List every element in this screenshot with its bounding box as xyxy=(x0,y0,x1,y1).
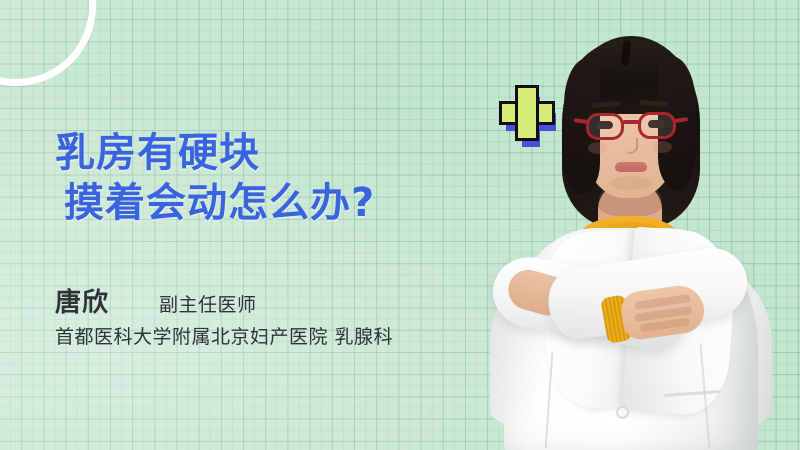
mouth xyxy=(615,162,647,172)
glasses-lens-left xyxy=(586,113,624,140)
doctor-credit: 唐欣 副主任医师 首都医科大学附属北京妇产医院 乳腺科 xyxy=(55,282,485,349)
lab-coat-button xyxy=(616,406,629,419)
chin-shadow xyxy=(610,176,652,190)
doctor-title: 副主任医师 xyxy=(159,290,257,317)
glasses-bridge xyxy=(623,120,639,124)
cheek-right xyxy=(652,141,672,153)
headline-line-1: 乳房有硬块 xyxy=(55,128,485,178)
cross-center-patch xyxy=(519,105,535,121)
doctor-affiliation: 首都医科大学附属北京妇产医院 乳腺科 xyxy=(55,322,485,349)
doctor-name: 唐欣 xyxy=(55,282,109,319)
headline: 乳房有硬块 摸着会动怎么办? xyxy=(55,128,485,228)
cheek-left xyxy=(588,142,608,154)
thumbnail-canvas: 乳房有硬块 摸着会动怎么办? 唐欣 副主任医师 首都医科大学附属北京妇产医院 乳… xyxy=(0,0,800,450)
headline-line-2: 摸着会动怎么办? xyxy=(55,178,485,228)
glasses-lens-right xyxy=(638,112,676,139)
doctor-credit-row: 唐欣 副主任医师 xyxy=(55,282,485,316)
doctor-portrait xyxy=(452,0,800,450)
